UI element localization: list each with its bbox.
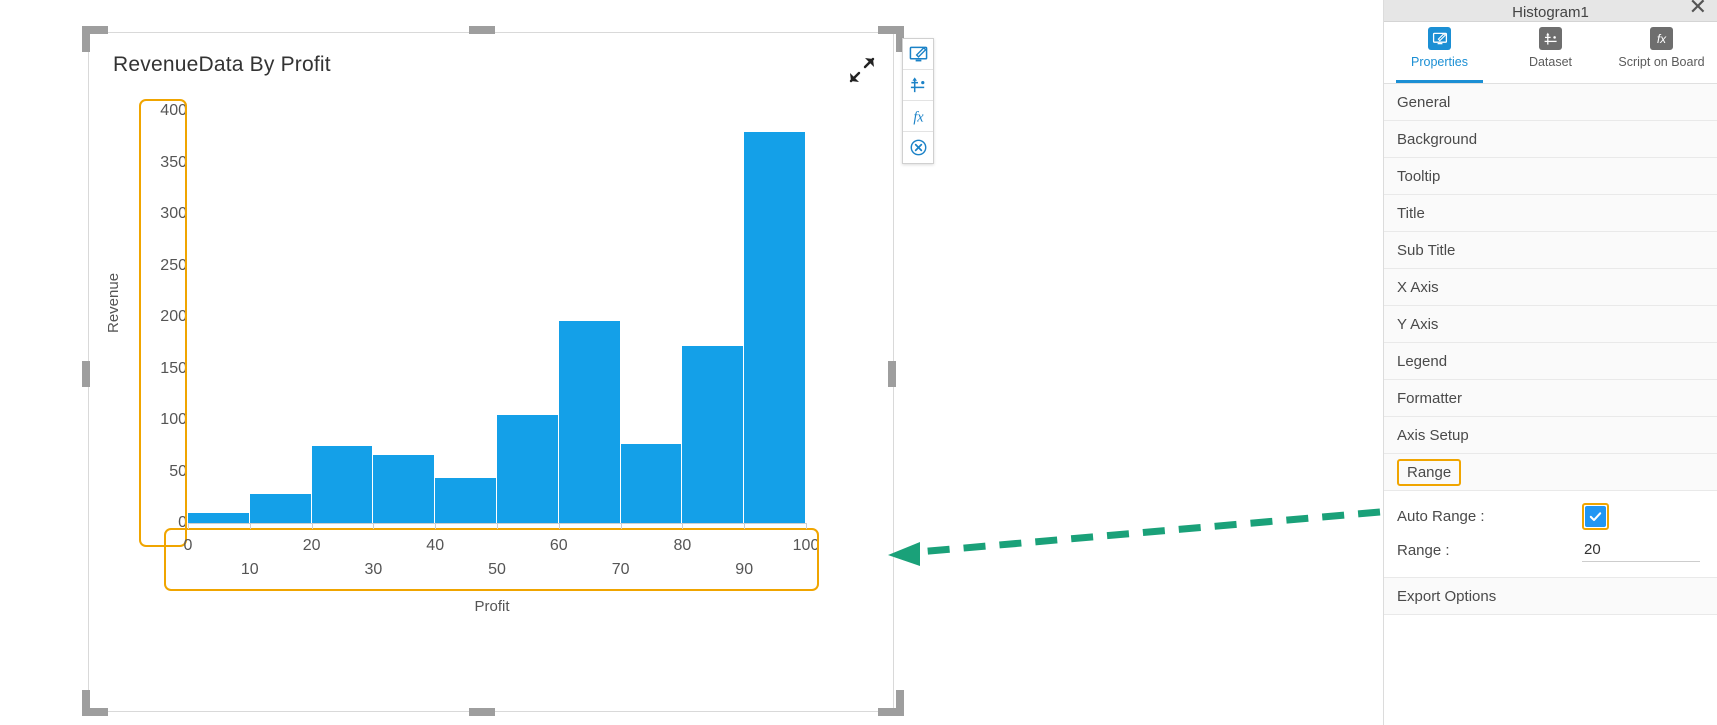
chart-widget[interactable]: RevenueData By Profit Revenue Profit 050… (88, 32, 894, 712)
axis-icon (1539, 27, 1562, 50)
section-label: General (1397, 94, 1450, 111)
section-tooltip[interactable]: Tooltip (1384, 158, 1717, 195)
x-tickmark (497, 523, 498, 529)
y-tick-label: 200 (143, 308, 187, 326)
screen-root: RevenueData By Profit Revenue Profit 050… (0, 0, 1717, 725)
section-label: X Axis (1397, 279, 1439, 296)
auto-range-checkbox[interactable] (1582, 503, 1609, 530)
annotation-arrow (880, 500, 1390, 580)
range-value-row: Range : (1384, 533, 1717, 567)
x-tick-label-secondary: 10 (241, 561, 259, 579)
selection-handle-bottom[interactable] (469, 708, 495, 716)
tab-dataset[interactable]: Dataset (1495, 22, 1606, 83)
x-tick-label-secondary: 30 (364, 561, 382, 579)
y-tick-label: 300 (143, 205, 187, 223)
section-range[interactable]: Range (1384, 454, 1717, 491)
histogram-bar[interactable] (188, 513, 250, 523)
x-tick-label: 60 (550, 537, 568, 555)
section-export-options[interactable]: Export Options (1384, 578, 1717, 615)
section-label: Title (1397, 205, 1425, 222)
range-properties-body: Auto Range :Range : (1384, 491, 1717, 578)
y-tick-label: 350 (143, 154, 187, 172)
section-sub-title[interactable]: Sub Title (1384, 232, 1717, 269)
tab-label: Dataset (1529, 55, 1572, 69)
x-tick-label-secondary: 50 (488, 561, 506, 579)
histogram-bar[interactable] (497, 415, 559, 523)
section-background[interactable]: Background (1384, 121, 1717, 158)
section-label: Range (1397, 459, 1461, 486)
section-label: Export Options (1397, 588, 1496, 605)
axis-setup-icon[interactable] (903, 70, 933, 101)
x-axis-label: Profit (89, 598, 895, 615)
panel-sections: GeneralBackgroundTooltipTitleSub TitleX … (1384, 84, 1717, 615)
x-tickmark (744, 523, 745, 529)
x-axis-highlight-box (164, 528, 819, 591)
x-tickmark (559, 523, 560, 529)
svg-text:fx: fx (913, 109, 924, 125)
section-label: Background (1397, 131, 1477, 148)
y-tick-label: 50 (143, 463, 187, 481)
histogram-bar[interactable] (373, 455, 435, 523)
tab-label: Properties (1411, 55, 1468, 69)
x-tick-label: 80 (673, 537, 691, 555)
x-tickmark (621, 523, 622, 529)
x-tickmark (682, 523, 683, 529)
section-label: Legend (1397, 353, 1447, 370)
x-tickmark (806, 523, 807, 529)
y-tick-label: 100 (143, 411, 187, 429)
checkbox-fill (1585, 506, 1606, 527)
x-tickmark (188, 523, 189, 529)
close-icon[interactable]: ✕ (1689, 0, 1707, 18)
y-axis-ticks: 050100150200250300350400 (137, 33, 187, 533)
fx-icon: fx (1650, 27, 1673, 50)
section-label: Formatter (1397, 390, 1462, 407)
x-tickmark (312, 523, 313, 529)
section-y-axis[interactable]: Y Axis (1384, 306, 1717, 343)
auto-range-row: Auto Range : (1384, 499, 1717, 533)
x-tick-label: 20 (303, 537, 321, 555)
histogram-bar[interactable] (621, 444, 683, 523)
section-label: Y Axis (1397, 316, 1438, 333)
section-x-axis[interactable]: X Axis (1384, 269, 1717, 306)
y-tick-label: 150 (143, 360, 187, 378)
chart-toolstrip[interactable]: fx (902, 38, 934, 164)
plot-area: Revenue Profit 050100150200250300350400 … (89, 33, 895, 713)
y-tick-label: 400 (143, 102, 187, 120)
range-input[interactable] (1582, 539, 1700, 562)
x-tickmark (373, 523, 374, 529)
histogram-bar[interactable] (250, 494, 312, 523)
tab-properties[interactable]: Properties (1384, 22, 1495, 83)
histogram-bar[interactable] (435, 478, 497, 523)
monitor-edit-icon (1428, 27, 1451, 50)
x-tickmark (250, 523, 251, 529)
x-tick-label: 0 (184, 537, 193, 555)
section-legend[interactable]: Legend (1384, 343, 1717, 380)
panel-tabs[interactable]: PropertiesDatasetfxScript on Board (1384, 22, 1717, 84)
range-label: Range : (1397, 542, 1582, 559)
panel-header: Histogram1 ✕ (1384, 0, 1717, 22)
section-axis-setup[interactable]: Axis Setup (1384, 417, 1717, 454)
section-label: Axis Setup (1397, 427, 1469, 444)
y-tick-label: 0 (143, 514, 187, 532)
delete-icon[interactable] (903, 132, 933, 163)
section-title[interactable]: Title (1384, 195, 1717, 232)
histogram-bars (188, 111, 806, 523)
edit-chart-icon[interactable] (903, 39, 933, 70)
histogram-bar[interactable] (559, 321, 621, 523)
panel-title: Histogram1 (1512, 4, 1589, 21)
section-formatter[interactable]: Formatter (1384, 380, 1717, 417)
selection-handle-right[interactable] (888, 361, 896, 387)
selection-handle-left[interactable] (82, 361, 90, 387)
x-tick-label-secondary: 90 (735, 561, 753, 579)
y-axis-label: Revenue (105, 273, 122, 333)
auto-range-label: Auto Range : (1397, 508, 1582, 525)
tab-label: Script on Board (1618, 55, 1704, 69)
x-tick-label-secondary: 70 (612, 561, 630, 579)
properties-panel: Histogram1 ✕ PropertiesDatasetfxScript o… (1383, 0, 1717, 725)
x-tick-label: 40 (426, 537, 444, 555)
histogram-bar[interactable] (312, 446, 374, 523)
formula-icon[interactable]: fx (903, 101, 933, 132)
histogram-bar[interactable] (682, 346, 744, 523)
tab-script-on-board[interactable]: fxScript on Board (1606, 22, 1717, 83)
histogram-bar[interactable] (744, 132, 806, 523)
section-label: Tooltip (1397, 168, 1440, 185)
x-tickmark (435, 523, 436, 529)
x-tick-label: 100 (793, 537, 820, 555)
selection-handle-top[interactable] (469, 26, 495, 34)
section-label: Sub Title (1397, 242, 1455, 259)
y-tick-label: 250 (143, 257, 187, 275)
section-general[interactable]: General (1384, 84, 1717, 121)
